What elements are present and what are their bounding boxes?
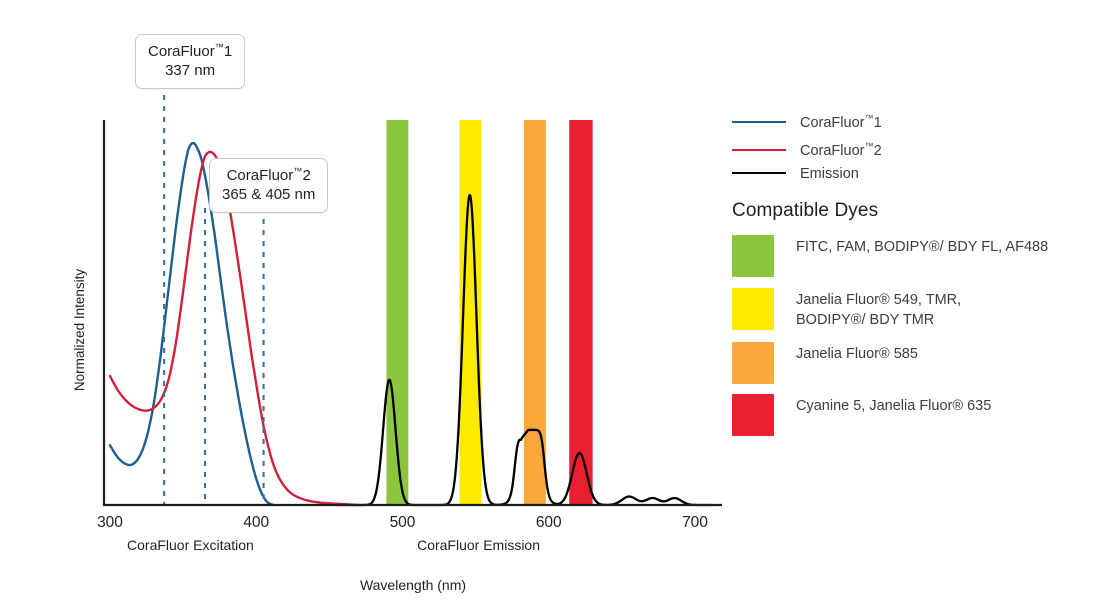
callout-corafluor1-line2: 337 nm [148, 61, 232, 80]
x-region-label-emission: CoraFluor Emission [417, 537, 540, 553]
legend-line-corafluor2 [732, 149, 786, 151]
legend-label-corafluor2: CoraFluor™2 [800, 141, 882, 159]
dye-row-fitc: FITC, FAM, BODIPY®/ BDY FL, AF488 [732, 235, 1048, 277]
x-region-label-excitation: CoraFluor Excitation [127, 537, 254, 553]
x-tick-600: 600 [536, 514, 562, 531]
dye-swatch-red [732, 394, 774, 436]
y-axis-title: Normalized Intensity [72, 269, 87, 392]
x-tick-700: 700 [682, 514, 708, 531]
dye-row-cyanine5: Cyanine 5, Janelia Fluor® 635 [732, 394, 991, 436]
compatible-dyes-heading: Compatible Dyes [732, 200, 878, 222]
legend-line-emission [732, 172, 786, 174]
callout-corafluor2: CoraFluor™2 365 & 405 nm [209, 158, 328, 213]
callout-corafluor1: CoraFluor™1 337 nm [135, 34, 245, 89]
dye-label-fitc: FITC, FAM, BODIPY®/ BDY FL, AF488 [796, 235, 1048, 258]
legend-line-corafluor1 [732, 121, 786, 123]
legend-series-emission: Emission [732, 164, 859, 182]
legend-series-corafluor1: CoraFluor™1 [732, 113, 882, 131]
dye-swatch-green [732, 235, 774, 277]
legend-series-corafluor2: CoraFluor™2 [732, 141, 882, 159]
dye-row-janelia549: Janelia Fluor® 549, TMR, BODIPY®/ BDY TM… [732, 288, 961, 330]
chart-svg: 300400500600700CoraFluor ExcitationCoraF… [0, 0, 740, 612]
callout-corafluor1-line1: CoraFluor™1 [148, 42, 232, 61]
callout-corafluor2-line2: 365 & 405 nm [222, 185, 315, 204]
legend-label-corafluor1: CoraFluor™1 [800, 113, 882, 131]
x-tick-500: 500 [390, 514, 416, 531]
legend-label-emission: Emission [800, 164, 859, 182]
x-tick-300: 300 [97, 514, 123, 531]
dye-row-janelia585: Janelia Fluor® 585 [732, 342, 918, 384]
chart-legend: CoraFluor™1 CoraFluor™2 Emission Compati… [728, 0, 1110, 612]
spectra-chart: 300400500600700CoraFluor ExcitationCoraF… [0, 0, 740, 612]
dye-swatch-orange [732, 342, 774, 384]
red-band [569, 120, 592, 505]
dye-swatch-yellow [732, 288, 774, 330]
dye-label-cyanine5: Cyanine 5, Janelia Fluor® 635 [796, 394, 991, 417]
callout-corafluor2-line1: CoraFluor™2 [222, 166, 315, 185]
x-axis-title: Wavelength (nm) [360, 577, 466, 593]
dye-label-janelia549: Janelia Fluor® 549, TMR, BODIPY®/ BDY TM… [796, 288, 961, 330]
dye-label-janelia585: Janelia Fluor® 585 [796, 342, 918, 365]
x-tick-400: 400 [243, 514, 269, 531]
